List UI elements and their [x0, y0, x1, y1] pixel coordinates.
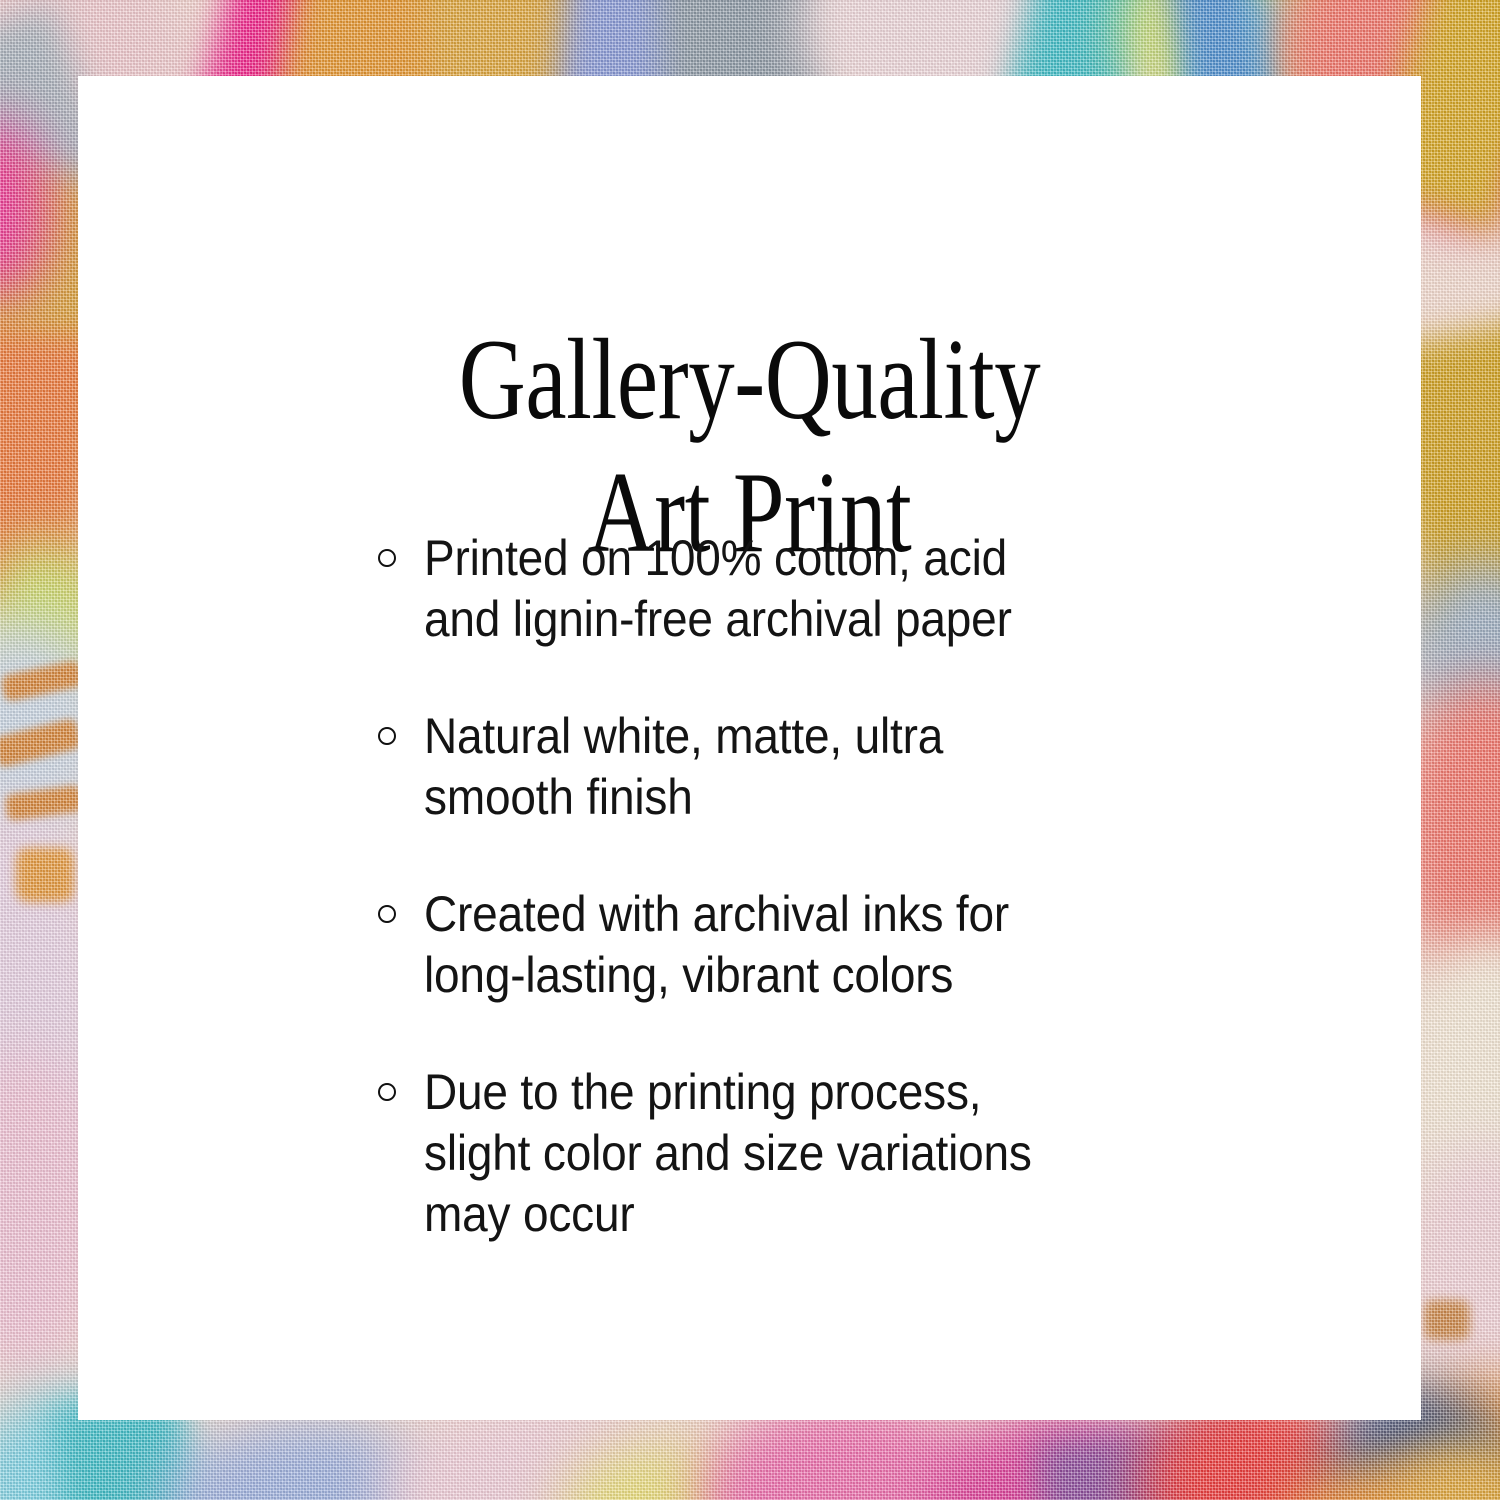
list-item: Natural white, matte, ultra smooth finis…	[378, 706, 1168, 828]
hollow-circle-bullet-icon	[378, 905, 396, 923]
list-item: Printed on 100% cotton, acid and lignin-…	[378, 528, 1168, 650]
feature-text: Printed on 100% cotton, acid and lignin-…	[424, 528, 1108, 650]
list-item: Due to the printing process, slight colo…	[378, 1062, 1168, 1245]
paint-dab-rust-right	[1424, 1300, 1470, 1340]
feature-list: Printed on 100% cotton, acid and lignin-…	[378, 528, 1168, 1245]
title-line-1: Gallery-Quality	[212, 314, 1286, 447]
hollow-circle-bullet-icon	[378, 1083, 396, 1101]
list-item: Created with archival inks for long-last…	[378, 884, 1168, 1006]
info-card: Gallery-Quality Art Print Printed on 100…	[78, 76, 1421, 1420]
hollow-circle-bullet-icon	[378, 549, 396, 567]
paint-dab-orange-4	[16, 848, 74, 902]
feature-text: Natural white, matte, ultra smooth finis…	[424, 706, 1108, 828]
hollow-circle-bullet-icon	[378, 727, 396, 745]
feature-text: Created with archival inks for long-last…	[424, 884, 1108, 1006]
card-content: Gallery-Quality Art Print Printed on 100…	[78, 76, 1421, 1420]
product-info-graphic: Gallery-Quality Art Print Printed on 100…	[0, 0, 1500, 1500]
feature-text: Due to the printing process, slight colo…	[424, 1062, 1108, 1245]
